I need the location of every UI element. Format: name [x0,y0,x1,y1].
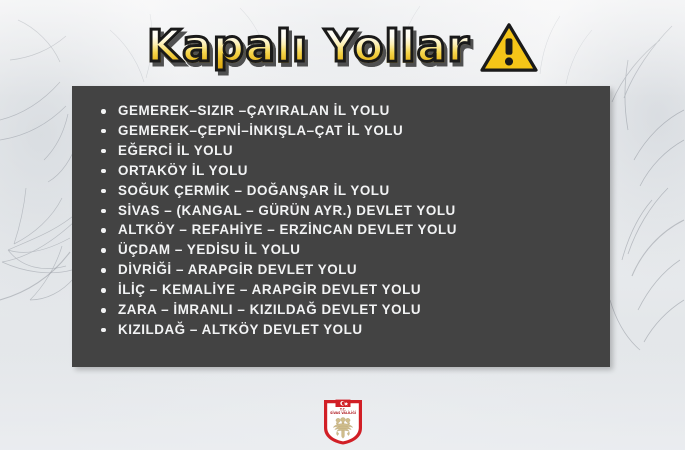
list-item: ZARA – İMRANLI – KIZILDAĞ DEVLET YOLU [98,300,610,320]
svg-text:SİVAS VALİLİĞİ: SİVAS VALİLİĞİ [330,410,356,415]
list-item: GEMEREK–SIZIR –ÇAYIRALAN İL YOLU [98,101,610,121]
list-item: GEMEREK–ÇEPNİ–İNKIŞLA–ÇAT İL YOLU [98,121,610,141]
list-item: ALTKÖY – REFAHİYE – ERZİNCAN DEVLET YOLU [98,220,610,240]
list-item: KIZILDAĞ – ALTKÖY DEVLET YOLU [98,320,610,340]
list-item: DİVRİĞİ – ARAPGİR DEVLET YOLU [98,260,610,280]
list-item: ÜÇDAM – YEDİSU İL YOLU [98,240,610,260]
poster-root: Kapalı Yollar GEMEREK–SIZIR –ÇAYIRALAN İ… [0,0,685,450]
warning-triangle-icon [480,22,538,74]
sivas-valiligi-emblem: T.C. SİVAS VALİLİĞİ [321,398,365,446]
list-item: SİVAS – (KANGAL – GÜRÜN AYR.) DEVLET YOL… [98,201,610,221]
closed-roads-list: GEMEREK–SIZIR –ÇAYIRALAN İL YOLU GEMEREK… [72,86,610,340]
list-item: İLİÇ – KEMALİYE – ARAPGİR DEVLET YOLU [98,280,610,300]
closed-roads-panel: GEMEREK–SIZIR –ÇAYIRALAN İL YOLU GEMEREK… [72,86,610,367]
list-item: SOĞUK ÇERMİK – DOĞANŞAR İL YOLU [98,181,610,201]
title-row: Kapalı Yollar [0,18,685,76]
list-item: ORTAKÖY İL YOLU [98,161,610,181]
list-item: EĞERCİ İL YOLU [98,141,610,161]
page-title: Kapalı Yollar [147,25,470,69]
